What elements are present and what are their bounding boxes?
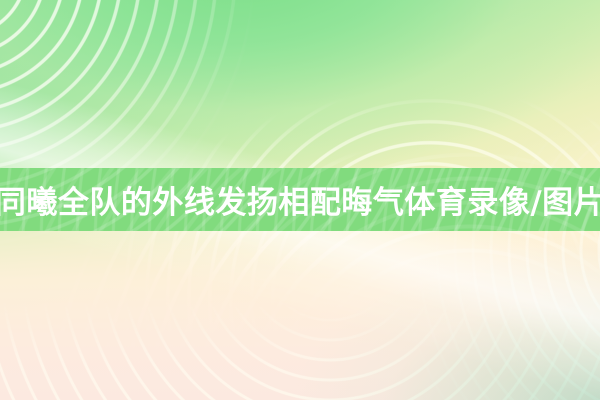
banner-title-text: 同曦全队的外线发扬相配晦气体育录像/图片 [0, 168, 600, 231]
title-band: 同曦全队的外线发扬相配晦气体育录像/图片 [0, 168, 600, 231]
decorative-banner: 同曦全队的外线发扬相配晦气体育录像/图片 [0, 0, 600, 400]
